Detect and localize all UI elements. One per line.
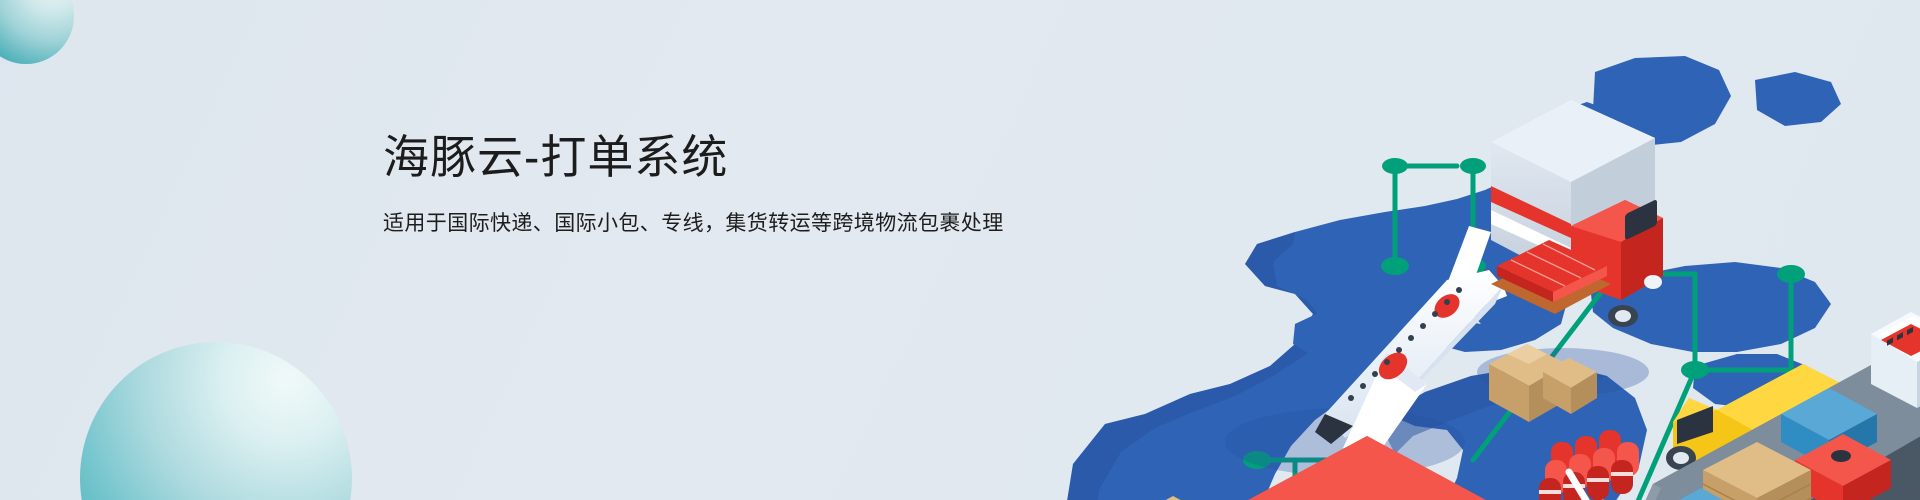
network-node [1777,265,1805,283]
network-node [1381,257,1409,275]
global-logistics-illustration [995,0,1920,500]
box-truck-headlight [1644,275,1662,289]
hero-banner: 海豚云-打单系统 适用于国际快递、国际小包、专线，集货转运等跨境物流包裹处理 [0,0,1920,500]
network-node [1382,158,1408,174]
box-truck-hub [1615,310,1631,322]
decorative-circle-top-left [0,0,74,64]
network-node [1460,158,1486,174]
page-subtitle: 适用于国际快递、国际小包、专线，集货转运等跨境物流包裹处理 [383,209,1003,239]
delivery-van-hub [1673,452,1689,464]
page-title: 海豚云-打单系统 [383,128,1003,187]
landmass-arctic-east [1755,72,1841,126]
decorative-circle-bottom-left [80,342,352,500]
banner-copy: 海豚云-打单系统 适用于国际快递、国际小包、专线，集货转运等跨境物流包裹处理 [383,128,1003,239]
network-node [1681,361,1709,379]
